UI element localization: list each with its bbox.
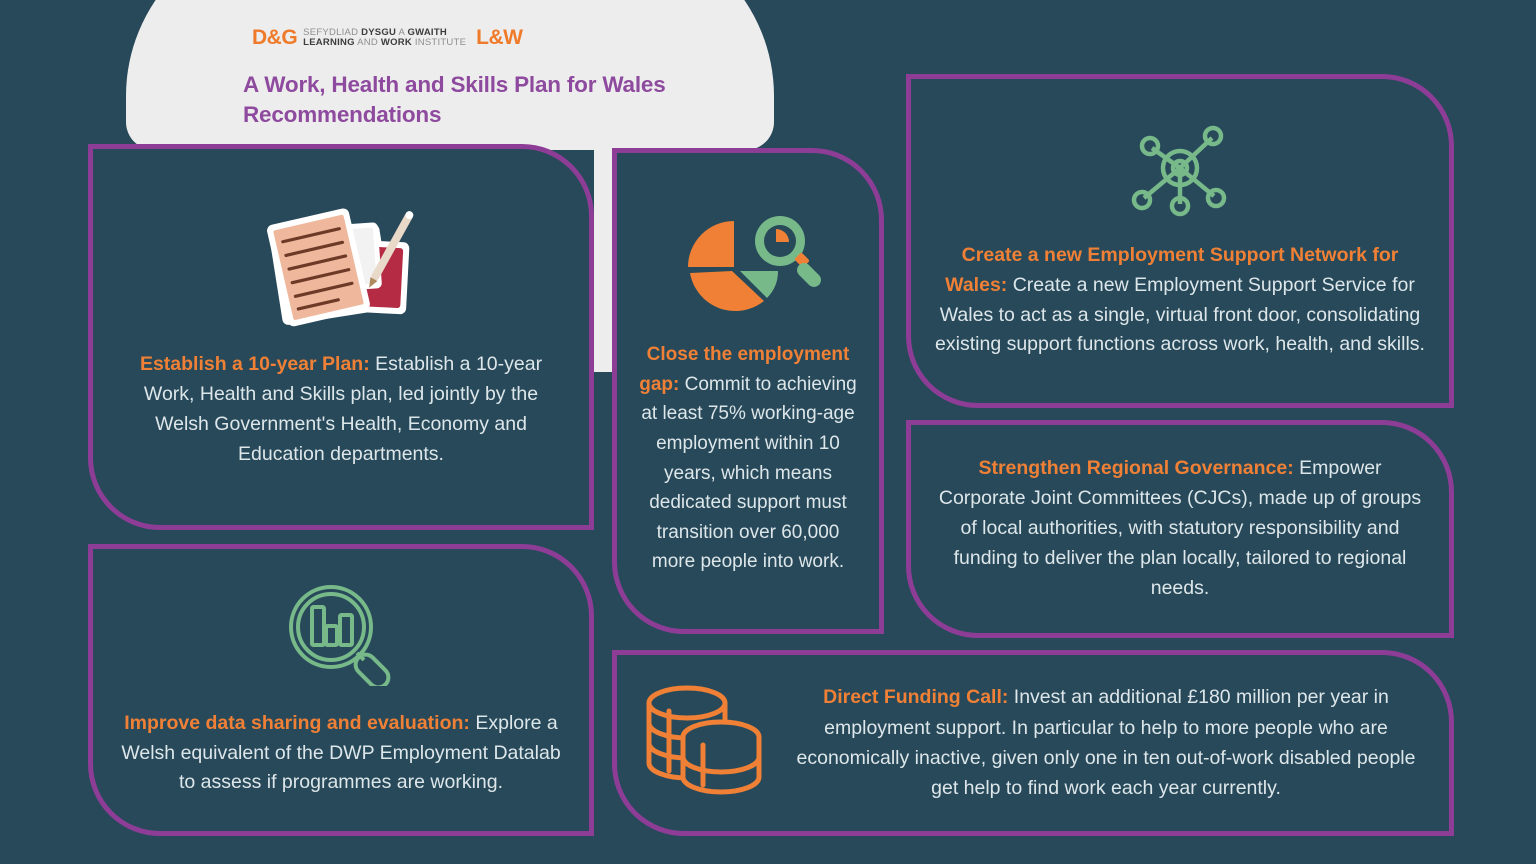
card-heading: Strengthen Regional Governance:	[978, 457, 1293, 479]
card-strengthen-regional-governance[interactable]: Strengthen Regional Governance: Empower …	[906, 420, 1454, 638]
logo-wordmark: SEFYDLIAD DYSGU A GWAITH LEARNING AND WO…	[303, 28, 466, 49]
card-employment-support-network[interactable]: Create a new Employment Support Network …	[906, 74, 1454, 408]
infographic-canvas: D&G SEFYDLIAD DYSGU A GWAITH LEARNING AN…	[0, 0, 1536, 864]
logo-dg-mark: D&G	[252, 26, 297, 50]
card-text: Direct Funding Call: Invest an additiona…	[785, 682, 1427, 804]
card-close-employment-gap[interactable]: Close the employment gap: Commit to achi…	[612, 148, 884, 634]
magnifier-bar-chart-icon	[282, 582, 400, 691]
network-nodes-icon	[1128, 122, 1232, 223]
card-direct-funding-call[interactable]: Direct Funding Call: Invest an additiona…	[612, 650, 1454, 836]
logo-lw-mark: L&W	[476, 26, 522, 50]
card-improve-data-sharing[interactable]: Improve data sharing and evaluation: Exp…	[88, 544, 594, 836]
card-text: Create a new Employment Support Network …	[933, 241, 1427, 360]
learning-and-work-institute-logo: D&G SEFYDLIAD DYSGU A GWAITH LEARNING AN…	[252, 26, 523, 50]
card-establish-plan[interactable]: Establish a 10-year Plan: Establish a 10…	[88, 144, 594, 530]
logo-line-english: LEARNING AND WORK INSTITUTE	[303, 38, 466, 48]
card-text: Close the employment gap: Commit to achi…	[639, 340, 857, 577]
documents-and-pen-icon	[255, 204, 427, 332]
page-title-line-2: Recommendations	[243, 100, 743, 130]
card-description: Commit to achieving at least 75% working…	[641, 374, 856, 573]
stacked-coins-icon	[639, 679, 769, 808]
card-description: Create a new Employment Support Service …	[935, 274, 1425, 356]
page-title: A Work, Health and Skills Plan for Wales…	[243, 70, 743, 130]
card-heading: Direct Funding Call:	[823, 686, 1008, 708]
card-text: Improve data sharing and evaluation: Exp…	[115, 709, 567, 798]
pie-chart-magnifier-icon	[672, 205, 824, 322]
card-heading: Establish a 10-year Plan:	[140, 353, 370, 375]
card-heading: Improve data sharing and evaluation:	[124, 712, 470, 734]
card-text: Establish a 10-year Plan: Establish a 10…	[115, 350, 567, 469]
card-text: Strengthen Regional Governance: Empower …	[933, 454, 1427, 603]
page-title-line-1: A Work, Health and Skills Plan for Wales	[243, 70, 743, 100]
